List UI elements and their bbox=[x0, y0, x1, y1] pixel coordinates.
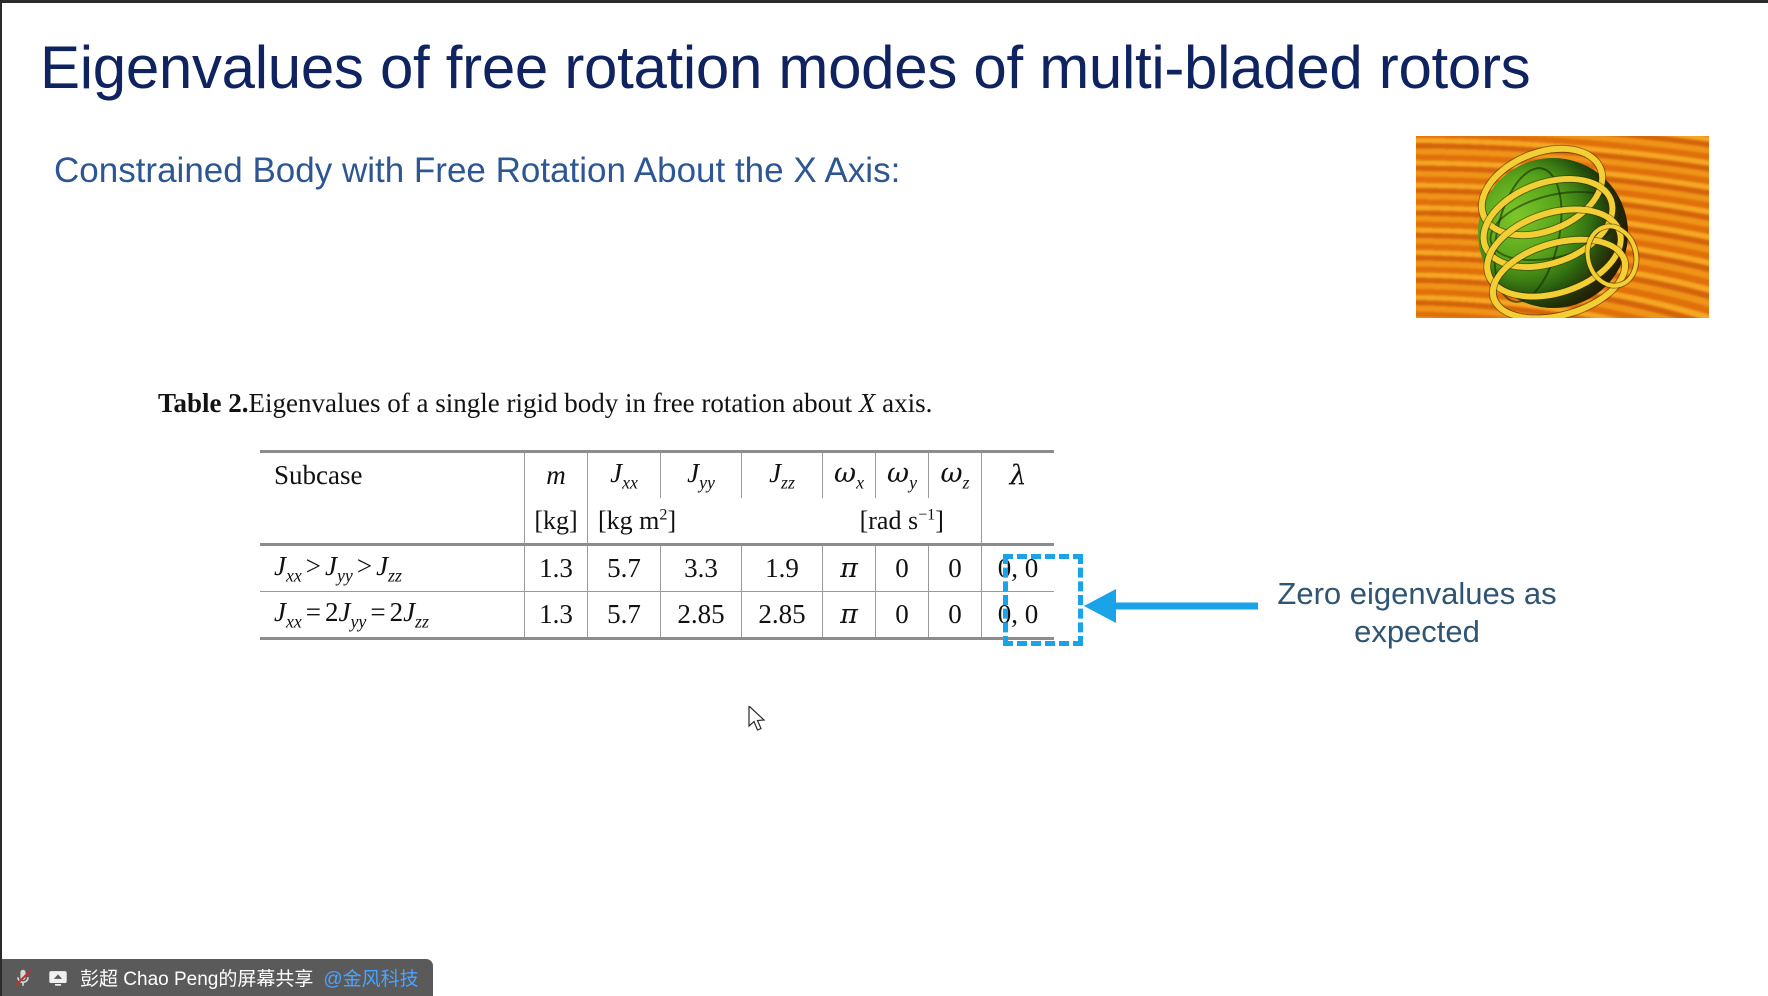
cell-omega-y: 0 bbox=[876, 592, 929, 639]
header-jzz: Jzz bbox=[742, 452, 823, 499]
cell-jyy: 2.85 bbox=[661, 592, 742, 639]
eigenvalue-table: Subcase m Jxx Jyy Jzz ωx ωy ωz λ [kg] [k… bbox=[260, 450, 1054, 640]
header-jxx: Jxx bbox=[588, 452, 661, 499]
header-jyy: Jyy bbox=[661, 452, 742, 499]
cell-mass: 1.3 bbox=[525, 592, 588, 639]
header-omega-y: ωy bbox=[876, 452, 929, 499]
cell-omega-x: π bbox=[823, 592, 876, 639]
cell-jzz: 1.9 bbox=[742, 545, 823, 592]
callout-line-1: Zero eigenvalues as bbox=[1252, 575, 1582, 613]
cell-jxx: 5.7 bbox=[588, 592, 661, 639]
cell-jyy: 3.3 bbox=[661, 545, 742, 592]
table-header-row: Subcase m Jxx Jyy Jzz ωx ωy ωz λ bbox=[260, 452, 1054, 499]
cell-jzz: 2.85 bbox=[742, 592, 823, 639]
share-owner-label: 彭超 Chao Peng的屏幕共享 bbox=[80, 964, 313, 991]
callout-line-2: expected bbox=[1252, 613, 1582, 651]
table-number: Table 2. bbox=[158, 388, 249, 418]
slide-canvas: Eigenvalues of free rotation modes of mu… bbox=[0, 0, 1768, 996]
units-blank bbox=[260, 498, 525, 545]
table-caption-axis: X bbox=[859, 388, 876, 418]
table-caption-text-2: axis. bbox=[875, 388, 932, 418]
header-omega-z: ωz bbox=[929, 452, 982, 499]
page-title: Eigenvalues of free rotation modes of mu… bbox=[40, 33, 1700, 102]
slide-subtitle: Constrained Body with Free Rotation Abou… bbox=[54, 151, 900, 191]
callout-annotation: Zero eigenvalues as expected bbox=[1252, 575, 1582, 651]
cell-omega-z: 0 bbox=[929, 545, 982, 592]
header-subcase: Subcase bbox=[260, 452, 525, 499]
cell-lambda: 0, 0 bbox=[982, 592, 1055, 639]
units-inertia: [kg m2] bbox=[588, 498, 823, 545]
callout-arrow-icon bbox=[1080, 581, 1260, 631]
units-mass: [kg] bbox=[525, 498, 588, 545]
cell-jxx: 5.7 bbox=[588, 545, 661, 592]
cell-mass: 1.3 bbox=[525, 545, 588, 592]
header-omega-x: ωx bbox=[823, 452, 876, 499]
units-omega: [rad s−1] bbox=[823, 498, 982, 545]
screen-share-icon[interactable] bbox=[45, 965, 71, 991]
microphone-muted-icon[interactable] bbox=[10, 965, 36, 991]
table-row: Jxx=2Jyy=2Jzz 1.3 5.7 2.85 2.85 π 0 0 0,… bbox=[260, 592, 1054, 639]
table-caption-text: Eigenvalues of a single rigid body in fr… bbox=[249, 388, 859, 418]
table-row: Jxx>Jyy>Jzz 1.3 5.7 3.3 1.9 π 0 0 0, 0 bbox=[260, 545, 1054, 592]
header-lambda: λ bbox=[982, 452, 1055, 499]
table-caption: Table 2.Eigenvalues of a single rigid bo… bbox=[158, 388, 932, 419]
cell-subcase: Jxx=2Jyy=2Jzz bbox=[260, 592, 525, 639]
share-company-label: @金风科技 bbox=[323, 964, 418, 991]
units-lambda-blank bbox=[982, 498, 1055, 545]
cell-omega-y: 0 bbox=[876, 545, 929, 592]
cell-omega-x: π bbox=[823, 545, 876, 592]
cell-omega-z: 0 bbox=[929, 592, 982, 639]
screen-share-bar[interactable]: 彭超 Chao Peng的屏幕共享 @金风科技 bbox=[2, 959, 433, 996]
rotating-ball-illustration bbox=[1416, 136, 1709, 318]
cell-lambda: 0, 0 bbox=[982, 545, 1055, 592]
table-units-row: [kg] [kg m2] [rad s−1] bbox=[260, 498, 1054, 545]
header-mass: m bbox=[525, 452, 588, 499]
cell-subcase: Jxx>Jyy>Jzz bbox=[260, 545, 525, 592]
mouse-pointer bbox=[748, 706, 770, 734]
